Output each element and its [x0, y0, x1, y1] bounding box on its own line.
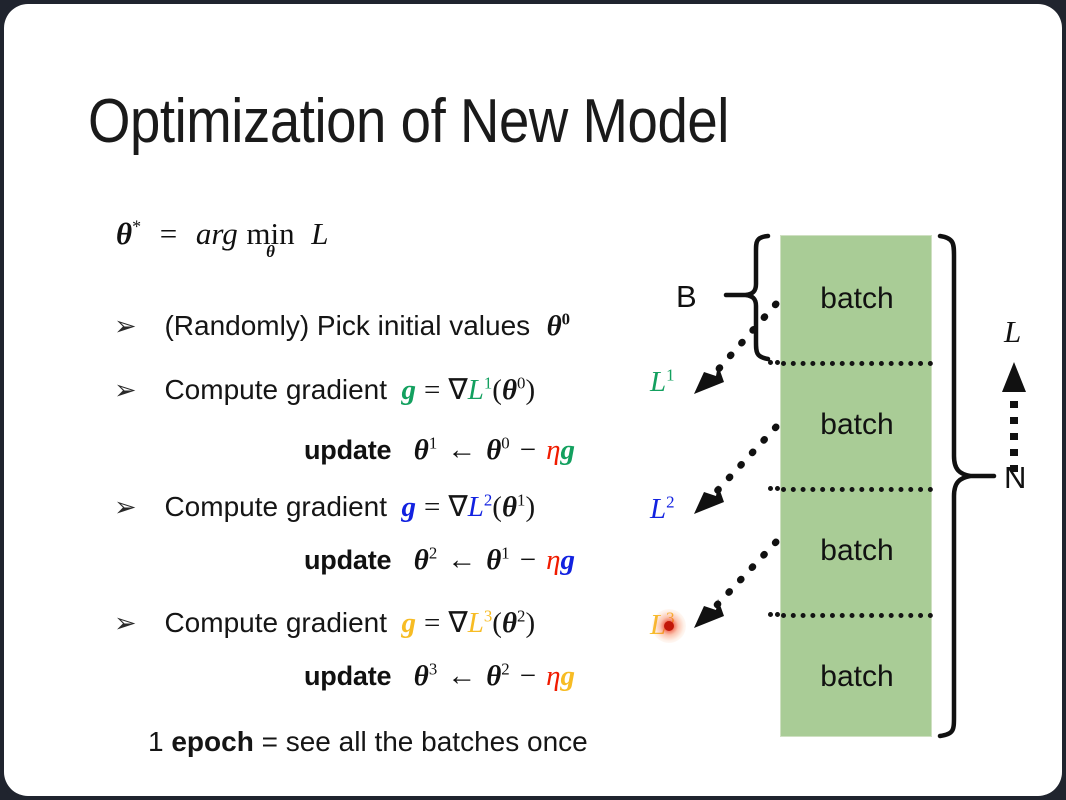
bullet-arrow-icon: ➢ [114, 492, 160, 523]
epoch-bold: epoch [171, 726, 253, 757]
brace-label-b: B [676, 279, 697, 315]
bullet-arrow-icon: ➢ [114, 375, 160, 406]
axis-arrow-head [1002, 362, 1026, 392]
arrow-to-loss-3-head [694, 599, 724, 628]
loss-tag-1: L1 [650, 366, 675, 399]
update-line-2: update θ2←θ1−ηg [304, 544, 575, 577]
batch-cell-4: batch [781, 614, 933, 739]
arrow-to-loss-2-head [694, 485, 724, 514]
bullet-formula-1: g=∇L1(θ0) [401, 374, 535, 406]
batch-separator-2 [781, 487, 933, 492]
bullet-label-3: Compute gradient [164, 607, 387, 638]
objective-min-subscript: θ [246, 242, 294, 262]
update-label-1: update [304, 435, 391, 465]
batch-separator-1 [781, 361, 933, 366]
batch-separator-tick-1 [768, 360, 780, 365]
click-indicator-icon [652, 609, 686, 643]
update-formula-3: θ3←θ2−ηg [414, 660, 575, 692]
arrow-to-loss-1-tail [716, 304, 776, 372]
brace-B [746, 236, 768, 359]
batch-separator-tick-2 [768, 486, 780, 491]
update-line-1: update θ1←θ0−ηg [304, 434, 575, 467]
objective-theta: θ [116, 216, 132, 251]
objective-arg: arg [196, 216, 238, 251]
bullet-label-2: Compute gradient [164, 491, 387, 522]
objective-min-stack: min θ [246, 216, 294, 252]
page-title: Optimization of New Model [88, 86, 729, 157]
objective-equals: = [160, 216, 177, 251]
arrow-to-loss-2-tail [716, 427, 776, 492]
update-line-3: update θ3←θ2−ηg [304, 660, 575, 693]
bullet-formula-2: g=∇L2(θ1) [401, 491, 535, 523]
update-formula-1: θ1←θ0−ηg [414, 434, 575, 466]
brace-label-n: N [1004, 460, 1026, 496]
arrow-to-loss-3-tail [716, 542, 776, 606]
bullet-arrow-icon: ➢ [114, 311, 160, 342]
objective-loss: L [311, 216, 328, 251]
update-formula-2: θ2←θ1−ηg [414, 544, 575, 576]
dataset-column: batch batch batch batch [780, 235, 932, 737]
objective-formula: θ* = arg min θ L [116, 216, 328, 252]
objective-star: * [132, 217, 141, 237]
batch-separator-3 [781, 613, 933, 618]
arrow-to-loss-1-head [694, 365, 724, 394]
loss-tag-2: L2 [650, 493, 675, 526]
bullet-arrow-icon: ➢ [114, 608, 160, 639]
batch-cell-3: batch [781, 488, 933, 613]
bullet-label-1: Compute gradient [164, 374, 387, 405]
batch-cell-2: batch [781, 362, 933, 487]
bullet-item-compute-gradient-1: ➢ Compute gradient g=∇L1(θ0) [114, 372, 535, 407]
batch-separator-tick-3 [768, 612, 780, 617]
axis-label-l: L [1004, 314, 1021, 350]
brace-N [940, 236, 970, 736]
epoch-prefix: 1 [148, 726, 171, 757]
bullet-item-compute-gradient-2: ➢ Compute gradient g=∇L2(θ1) [114, 489, 535, 524]
slide-canvas: Optimization of New Model θ* = arg min θ… [4, 4, 1062, 796]
bullet-formula-0: θ0 [547, 310, 570, 342]
update-label-2: update [304, 545, 391, 575]
epoch-note: 1 epoch = see all the batches once [148, 726, 588, 758]
update-label-3: update [304, 661, 391, 691]
bullet-formula-3: g=∇L3(θ2) [401, 607, 535, 639]
batch-cell-1: batch [781, 236, 933, 361]
bullet-item-compute-gradient-3: ➢ Compute gradient g=∇L3(θ2) [114, 605, 535, 640]
slide-frame: Optimization of New Model θ* = arg min θ… [0, 0, 1066, 800]
bullet-item-initial-values: ➢ (Randomly) Pick initial values θ0 [114, 310, 570, 343]
bullet-label-0: (Randomly) Pick initial values [164, 310, 530, 341]
epoch-suffix: = see all the batches once [254, 726, 588, 757]
